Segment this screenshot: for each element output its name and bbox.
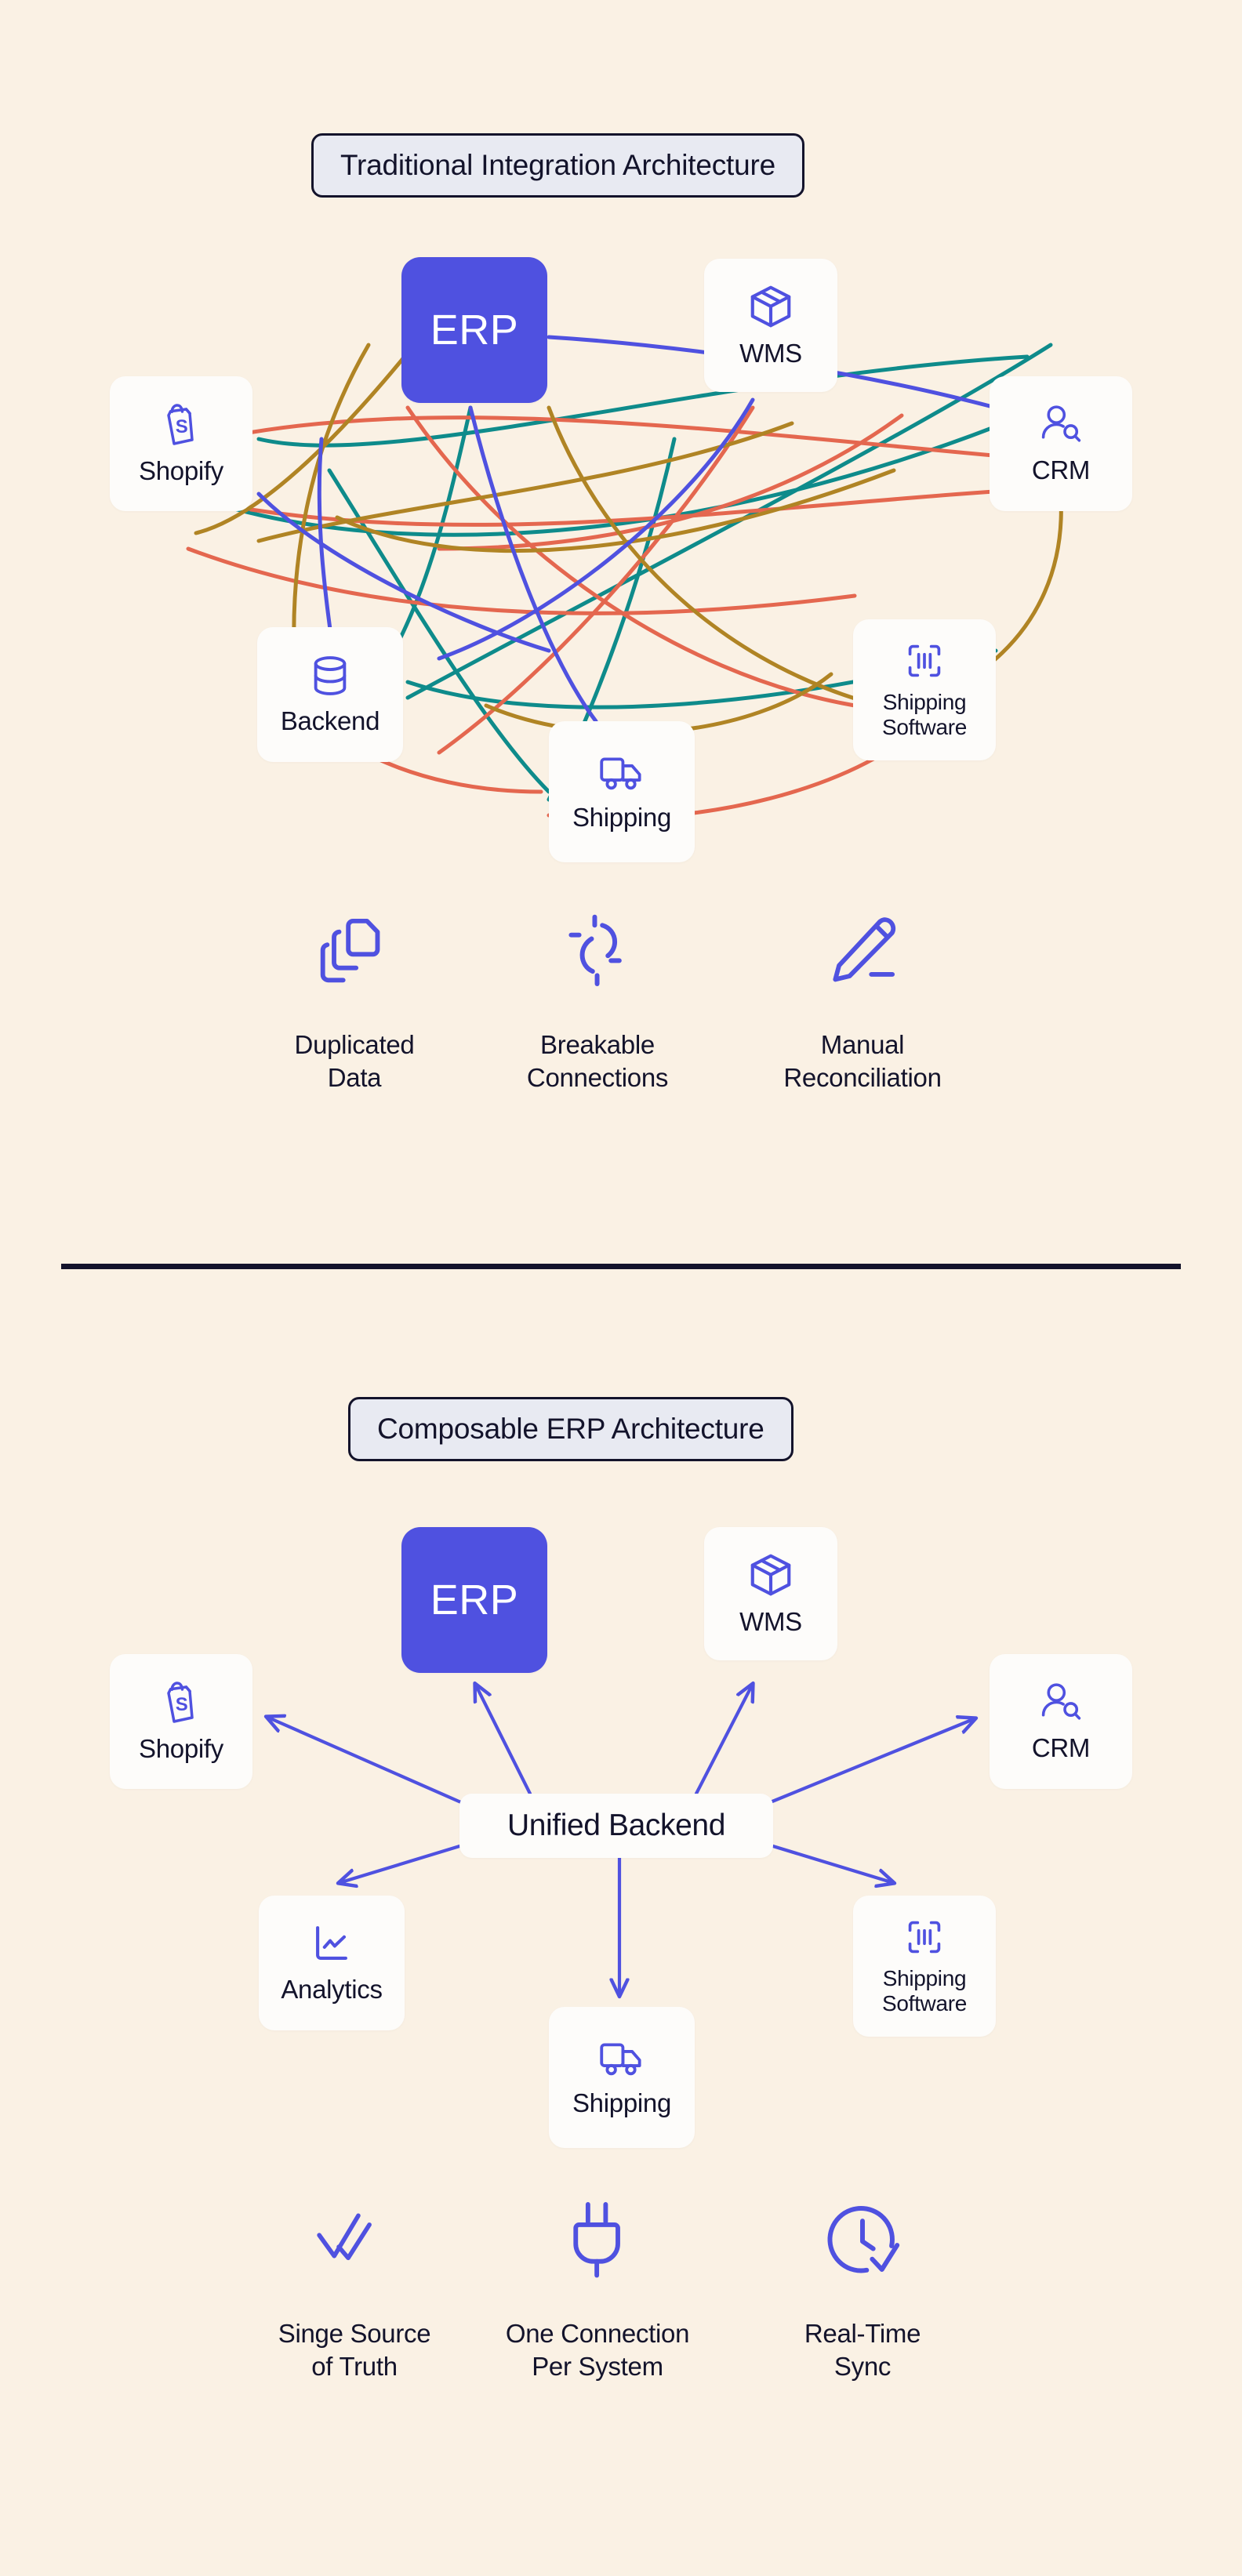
node-wms-label: WMS	[739, 339, 802, 368]
shopify-bag-icon: S	[158, 1679, 205, 1730]
node-crm[interactable]: CRM	[990, 376, 1132, 511]
node-shopify[interactable]: S Shopify	[110, 376, 252, 511]
node-unified-backend[interactable]: Unified Backend	[459, 1794, 773, 1858]
node-erp-label: ERP	[430, 307, 519, 354]
node-analytics-label: Analytics	[281, 1976, 382, 2005]
line-chart-icon	[309, 1921, 354, 1971]
node-shopify-composable[interactable]: S Shopify	[110, 1654, 252, 1789]
section-divider	[61, 1264, 1181, 1269]
feature-breakable-connections-label: BreakableConnections	[527, 1029, 668, 1094]
diagram-page: Traditional Integration Architecture	[0, 0, 1242, 2576]
node-shopify-composable-label: Shopify	[139, 1735, 223, 1764]
node-erp-composable[interactable]: ERP	[401, 1527, 547, 1673]
node-analytics[interactable]: Analytics	[259, 1896, 405, 2030]
node-shipping-software[interactable]: ShippingSoftware	[853, 619, 996, 760]
node-shipping[interactable]: Shipping	[549, 721, 695, 862]
barcode-icon	[904, 640, 945, 685]
node-shipping-software-label: ShippingSoftware	[882, 690, 967, 739]
node-erp-composable-label: ERP	[430, 1576, 519, 1624]
pencil-icon	[822, 900, 903, 1002]
feature-manual-reconciliation-label: ManualReconciliation	[783, 1029, 941, 1094]
node-crm-label: CRM	[1032, 456, 1090, 485]
shopify-bag-icon: S	[158, 401, 205, 452]
barcode-icon	[904, 1917, 945, 1961]
composable-section-title: Composable ERP Architecture	[348, 1397, 793, 1461]
feature-one-connection: One ConnectionPer System	[480, 2189, 715, 2383]
box-icon	[746, 282, 795, 335]
truck-icon	[597, 751, 646, 799]
user-search-icon	[1037, 402, 1085, 452]
node-wms-composable[interactable]: WMS	[704, 1527, 837, 1660]
database-icon	[307, 653, 353, 702]
node-backend-label: Backend	[281, 707, 379, 736]
feature-duplicated-data: DuplicatedData	[237, 900, 472, 1094]
feature-duplicated-data-label: DuplicatedData	[295, 1029, 415, 1094]
node-shipping-composable-label: Shipping	[572, 2089, 671, 2118]
node-wms[interactable]: WMS	[704, 259, 837, 392]
traditional-section-title: Traditional Integration Architecture	[311, 133, 804, 198]
node-wms-composable-label: WMS	[739, 1608, 802, 1637]
plug-icon	[560, 2189, 635, 2291]
feature-single-source-of-truth: Singe Sourceof Truth	[237, 2189, 472, 2383]
node-shipping-composable[interactable]: Shipping	[549, 2007, 695, 2148]
user-search-icon	[1037, 1680, 1085, 1729]
feature-realtime-sync: Real-TimeSync	[745, 2189, 980, 2383]
feature-realtime-sync-label: Real-TimeSync	[804, 2317, 921, 2383]
svg-text:S: S	[176, 1694, 188, 1715]
node-erp[interactable]: ERP	[401, 257, 547, 403]
node-shipping-software-composable[interactable]: ShippingSoftware	[853, 1896, 996, 2037]
feature-single-source-of-truth-label: Singe Sourceof Truth	[278, 2317, 431, 2383]
node-crm-composable-label: CRM	[1032, 1734, 1090, 1763]
double-check-icon	[312, 2189, 397, 2291]
node-backend[interactable]: Backend	[257, 627, 403, 762]
duplicate-docs-icon	[314, 900, 395, 1002]
feature-manual-reconciliation: ManualReconciliation	[745, 900, 980, 1094]
broken-link-icon	[556, 900, 639, 1002]
node-unified-backend-label: Unified Backend	[507, 1809, 725, 1843]
node-shipping-software-composable-label: ShippingSoftware	[882, 1966, 967, 2015]
node-shopify-label: Shopify	[139, 457, 223, 486]
feature-breakable-connections: BreakableConnections	[480, 900, 715, 1094]
node-crm-composable[interactable]: CRM	[990, 1654, 1132, 1789]
truck-icon	[597, 2037, 646, 2084]
box-icon	[746, 1551, 795, 1603]
clock-check-icon	[821, 2189, 904, 2291]
svg-text:S: S	[176, 416, 188, 437]
feature-one-connection-label: One ConnectionPer System	[506, 2317, 689, 2383]
node-shipping-label: Shipping	[572, 804, 671, 833]
